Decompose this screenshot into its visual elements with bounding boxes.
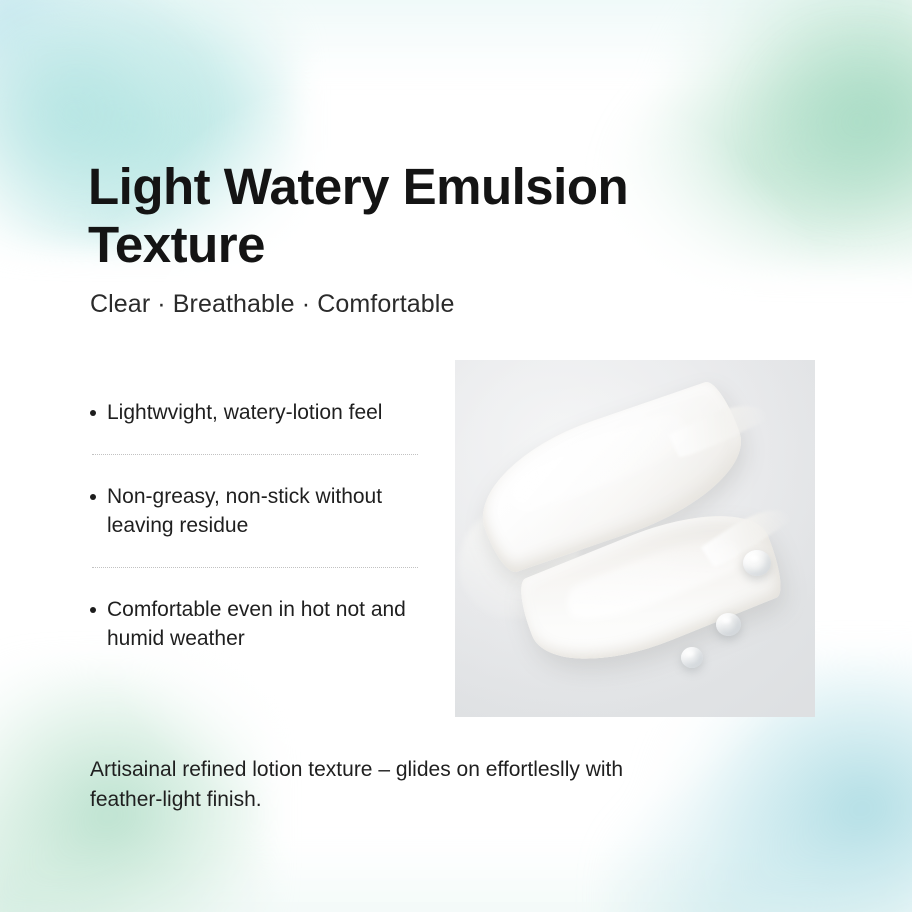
water-droplet-icon <box>716 613 741 636</box>
feature-item-1: Lightwvight, watery-lotion feel <box>90 398 420 427</box>
feature-list: Lightwvight, watery-lotion feel Non-grea… <box>90 398 420 653</box>
page-title: Light Watery Emulsion Texture <box>88 158 688 274</box>
page-subtitle: Clear · Breathable · Comfortable <box>90 288 454 320</box>
page-title-line-1: Light Watery Emulsion <box>88 158 628 215</box>
feature-divider-1 <box>92 454 418 455</box>
product-texture-image-inner <box>455 360 815 717</box>
feature-item-label: Lightwvight, watery-lotion feel <box>107 398 382 427</box>
feature-item-3: Comfortable even in hot not and humid we… <box>90 595 420 653</box>
bullet-point-icon <box>90 607 96 613</box>
page-title-line-2: Texture <box>88 216 265 273</box>
water-droplet-icon <box>681 647 703 668</box>
feature-divider-2 <box>92 567 418 568</box>
bullet-point-icon <box>90 494 96 500</box>
feature-item-2: Non-greasy, non-stick without leaving re… <box>90 482 420 540</box>
content-layer: Light Watery Emulsion Texture Clear · Br… <box>0 0 912 912</box>
feature-item-label: Comfortable even in hot not and humid we… <box>107 595 420 653</box>
product-texture-image <box>455 360 815 717</box>
feature-item-label: Non-greasy, non-stick without leaving re… <box>107 482 420 540</box>
water-droplet-icon <box>743 550 771 576</box>
infographic-canvas: Light Watery Emulsion Texture Clear · Br… <box>0 0 912 912</box>
footer-caption: Artisainal refined lotion texture – glid… <box>90 755 650 815</box>
bullet-point-icon <box>90 410 96 416</box>
